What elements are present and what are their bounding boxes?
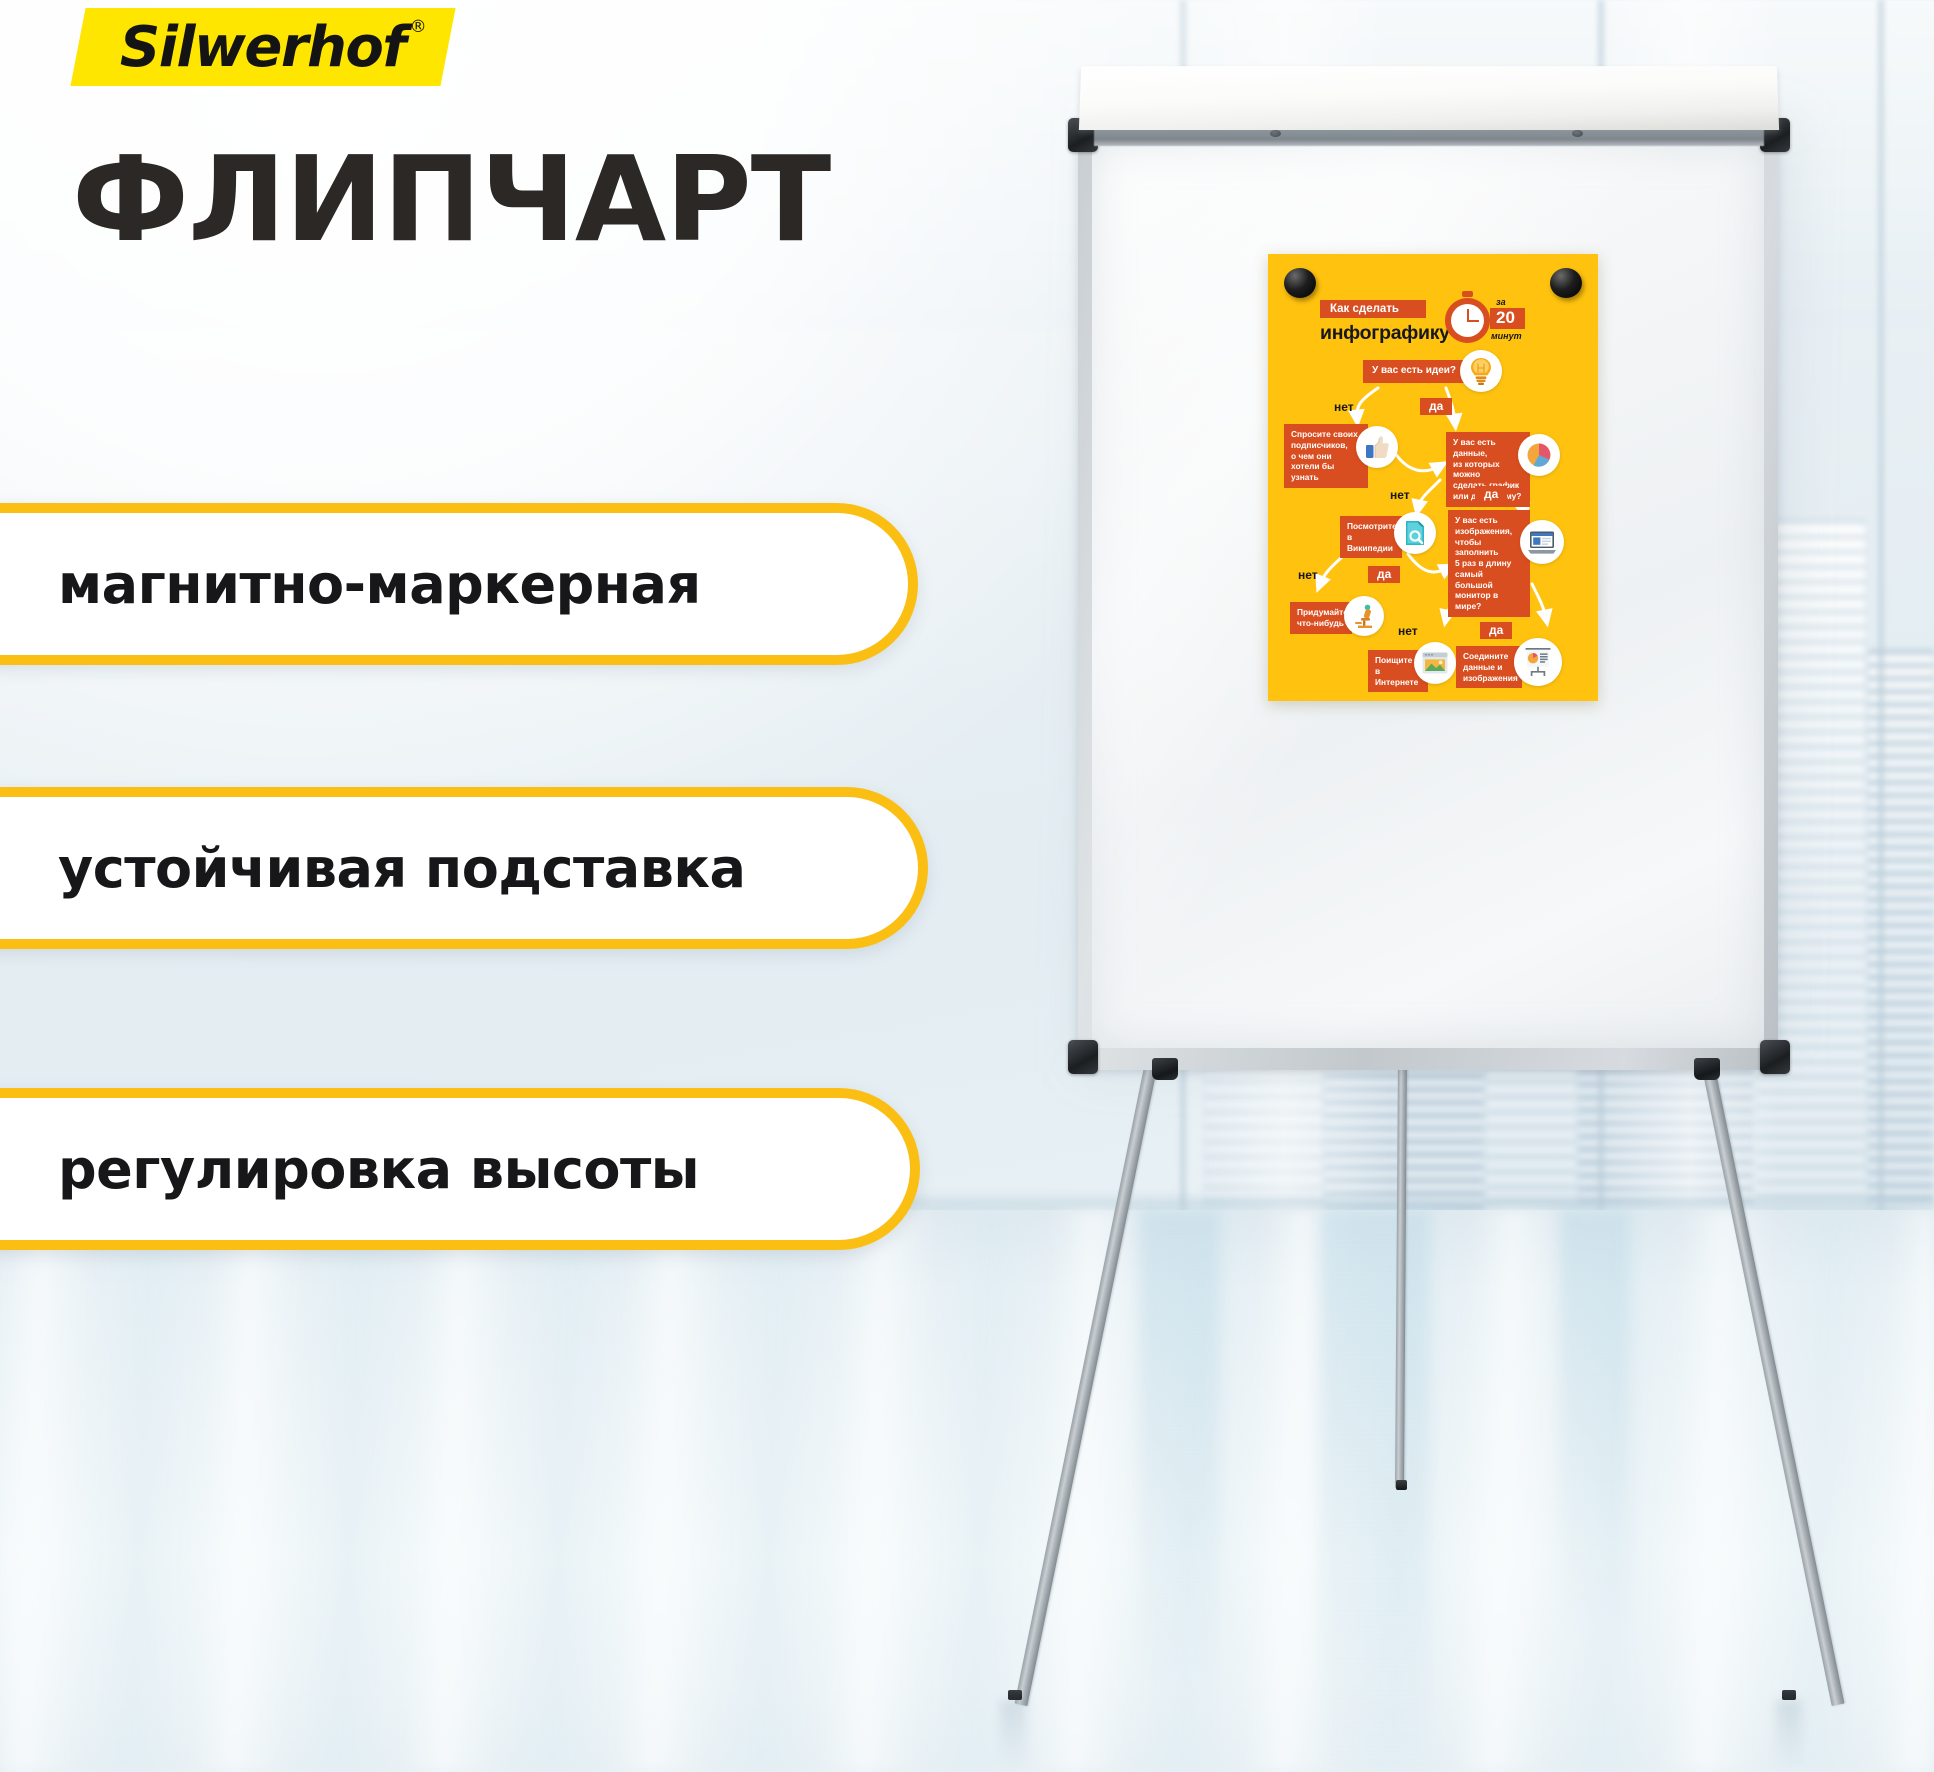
leg-foot bbox=[1008, 1690, 1022, 1700]
feature-label: магнитно-маркерная bbox=[58, 553, 701, 616]
magnet-right[interactable] bbox=[1550, 268, 1582, 298]
flow-node-a-wiki: Посмотрите в Википедии bbox=[1340, 516, 1402, 558]
leg-reflection bbox=[1776, 1700, 1802, 1770]
leg-foot bbox=[1396, 1480, 1407, 1490]
magnet-left[interactable] bbox=[1284, 268, 1316, 298]
leg-hinge-left bbox=[1152, 1058, 1178, 1080]
monitor-icon bbox=[1520, 520, 1564, 564]
leg-foot bbox=[1782, 1690, 1796, 1700]
infographic-poster: Как сделать инфографику за 20 минут bbox=[1268, 254, 1598, 701]
flow-node-q-images: У вас есть изображения, чтобы заполнить … bbox=[1448, 510, 1530, 617]
branch-label-yes: да bbox=[1475, 486, 1507, 503]
board-corner-clip bbox=[1068, 1040, 1098, 1074]
brand-name: Silwerhof bbox=[120, 15, 405, 80]
feature-pill-magnetic: магнитно-маркерная bbox=[0, 503, 918, 665]
feature-label: регулировка высоты bbox=[58, 1138, 699, 1201]
registered-trademark-icon: ® bbox=[410, 17, 426, 37]
brand-logo: Silwerhof ® bbox=[70, 8, 455, 86]
presentation-chart-icon bbox=[1514, 638, 1562, 686]
tripod-leg-rear bbox=[1395, 1060, 1407, 1488]
feature-pill-height: регулировка высоты bbox=[0, 1088, 920, 1250]
flow-node-a-combine: Соедините данные и изображения bbox=[1456, 646, 1522, 688]
document-search-icon bbox=[1394, 512, 1436, 554]
browser-image-icon bbox=[1414, 642, 1456, 684]
stopwatch-icon bbox=[1445, 291, 1490, 343]
lightbulb-icon bbox=[1460, 350, 1502, 392]
branch-label-no: нет bbox=[1398, 624, 1418, 638]
thumbs-up-icon bbox=[1356, 426, 1398, 468]
board-corner-clip bbox=[1760, 1040, 1790, 1074]
branch-label-yes: да bbox=[1420, 398, 1452, 415]
pie-chart-icon bbox=[1518, 434, 1560, 476]
flow-node-a-ask: Спросите своих подписчиков, о чем они хо… bbox=[1284, 424, 1368, 488]
clamp-screw bbox=[1572, 130, 1583, 137]
microscope-icon bbox=[1344, 596, 1384, 636]
clamp-screw bbox=[1270, 130, 1281, 137]
poster-title-line2: инфографику bbox=[1320, 322, 1450, 345]
tripod-leg-left bbox=[1015, 1057, 1159, 1706]
poster-title-line1: Как сделать bbox=[1320, 300, 1426, 318]
flow-node-a-invent: Придумайте что-нибудь bbox=[1290, 602, 1352, 634]
branch-label-yes: да bbox=[1368, 566, 1400, 583]
timer-unit: минут bbox=[1491, 331, 1522, 341]
timer-prefix: за bbox=[1496, 297, 1506, 307]
branch-label-no: нет bbox=[1298, 568, 1318, 582]
branch-label-no: нет bbox=[1334, 400, 1354, 414]
feature-label: устойчивая подставка bbox=[58, 837, 745, 900]
page-title: ФЛИПЧАРТ bbox=[72, 140, 830, 258]
flow-node-q-ideas: У вас есть идеи? bbox=[1363, 360, 1473, 383]
feature-pill-stand: устойчивая подставка bbox=[0, 787, 928, 949]
brand-logo-text: Silwerhof ® bbox=[120, 15, 405, 80]
branch-label-no: нет bbox=[1390, 488, 1410, 502]
leg-hinge-right bbox=[1694, 1058, 1720, 1080]
paper-clamp-bar[interactable] bbox=[1079, 66, 1779, 130]
marketing-copy-panel: Silwerhof ® ФЛИПЧАРТ магнитно-маркерная … bbox=[0, 0, 980, 1772]
branch-label-yes: да bbox=[1480, 622, 1512, 639]
timer-value: 20 bbox=[1490, 308, 1525, 329]
leg-reflection bbox=[1000, 1700, 1026, 1770]
tripod-leg-right bbox=[1700, 1057, 1844, 1706]
